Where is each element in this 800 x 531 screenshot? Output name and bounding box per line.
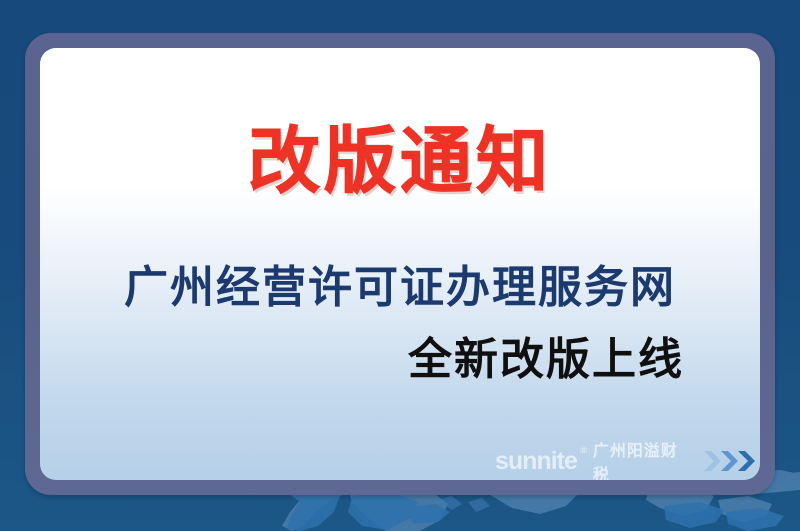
relaunch-line: 全新改版上线 [84,338,684,382]
announcement-poster: 改版通知 广州经营许可证办理服务网 全新改版上线 sunnite ® 广州阳溢财… [0,0,800,531]
brand-wordmark: sunnite ® [495,447,577,476]
triple-chevron-right-icon [702,448,760,474]
brand-wordmark-text: sunnite [495,447,577,475]
registered-mark-icon: ® [580,445,586,455]
page-title: 改版通知 [40,126,760,198]
poster-panel: 改版通知 广州经营许可证办理服务网 全新改版上线 sunnite ® 广州阳溢财… [40,48,760,480]
site-name-line: 广州经营许可证办理服务网 [84,266,716,310]
brand-watermark: sunnite ® 广州阳溢财税 [495,443,760,479]
brand-company-cn: 广州阳溢财税 [593,437,686,480]
